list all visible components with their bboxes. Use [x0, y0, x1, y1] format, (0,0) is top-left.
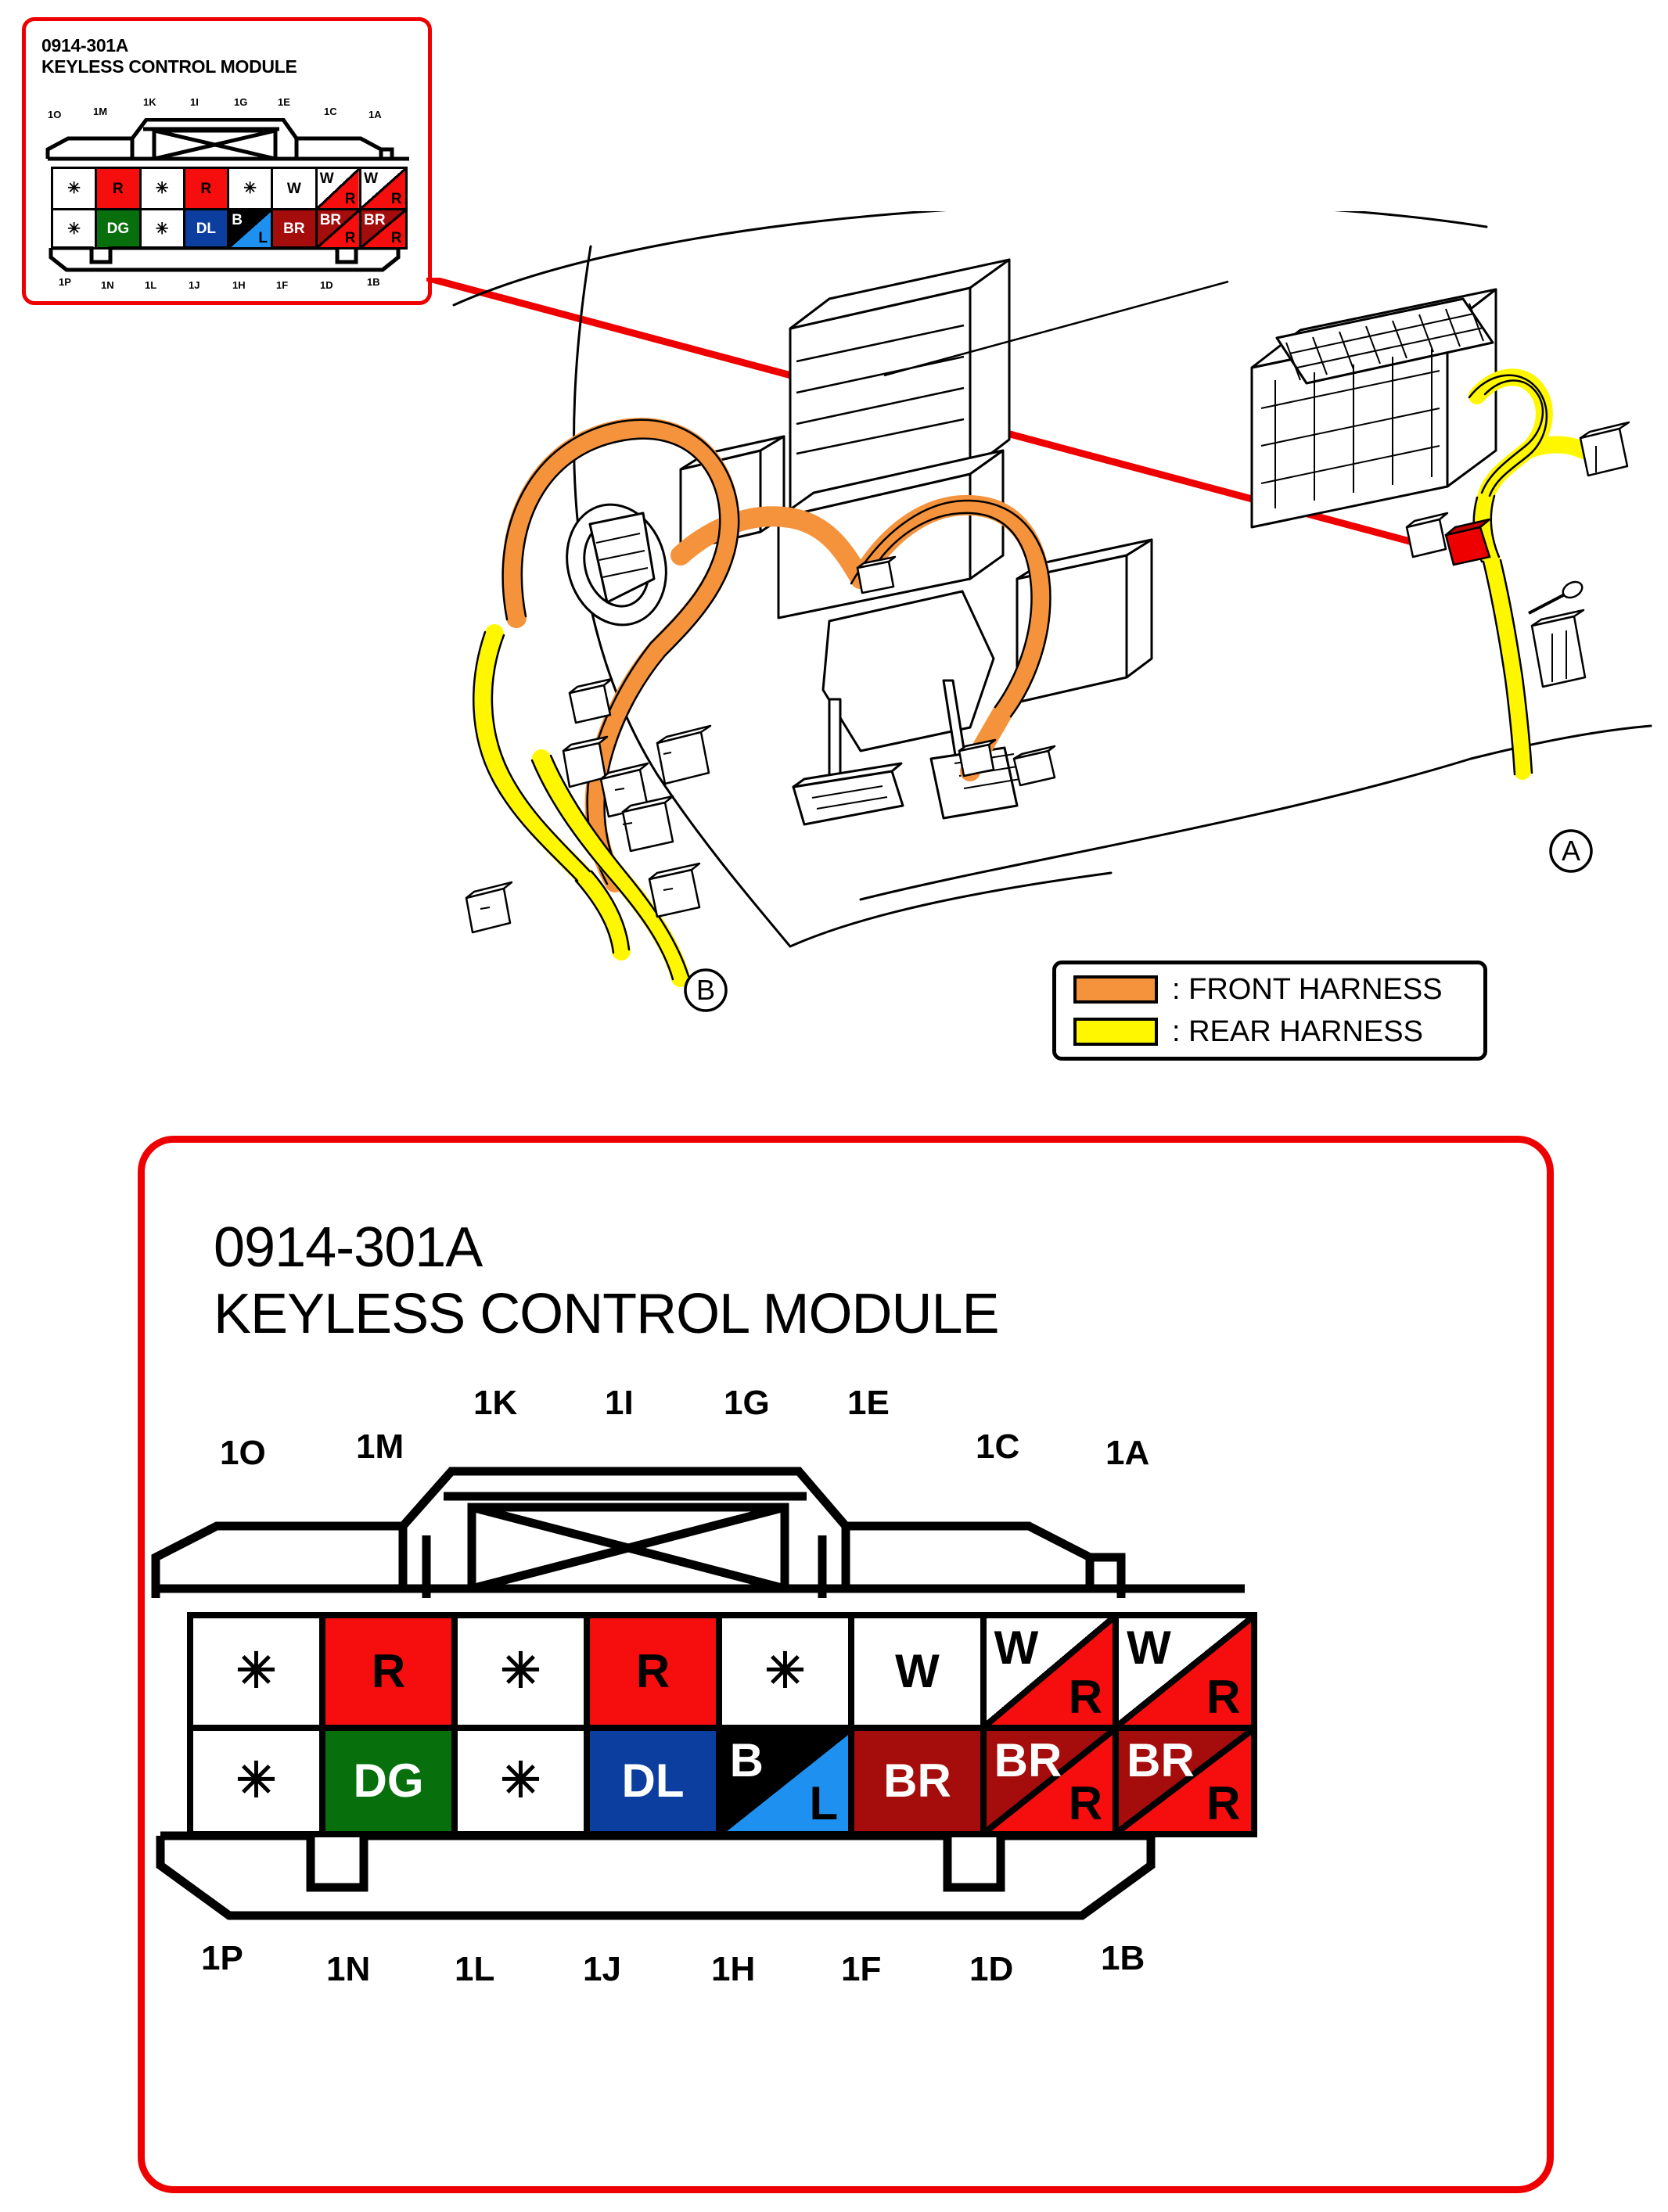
pin-cell[interactable]: DG — [97, 210, 141, 247]
front-harness-color-swatch — [1073, 975, 1158, 1004]
pin-cell[interactable]: R — [325, 1618, 458, 1725]
pin-cell[interactable]: WR — [361, 169, 405, 208]
pin-cell[interactable]: WR — [987, 1618, 1119, 1725]
inset-title-block: 0914-301A KEYLESS CONTROL MODULE — [41, 35, 417, 77]
svg-text:B: B — [696, 974, 715, 1006]
pin-cell[interactable]: WR — [1119, 1618, 1251, 1725]
pin-id-1F: 1F — [841, 1950, 881, 1989]
marker-a-icon: A — [1551, 831, 1591, 871]
inset-connector-top-shell — [45, 118, 412, 165]
inset-pin-id-1C: 1C — [324, 106, 337, 117]
rear-harness-color-swatch — [1073, 1018, 1158, 1046]
pin-cell[interactable]: DG — [325, 1731, 458, 1831]
inset-pin-grid: ✳R✳R✳WWRWR ✳DG✳DLBLBRBRRBRR — [51, 167, 408, 250]
pin-cell[interactable]: R — [185, 169, 229, 208]
harness-legend: : FRONT HARNESS : REAR HARNESS — [1052, 961, 1487, 1061]
inset-pin-id-1J: 1J — [189, 279, 200, 291]
panel-title-block: 0914-301A KEYLESS CONTROL MODULE — [214, 1215, 1387, 1348]
pin-id-1I: 1I — [605, 1384, 634, 1423]
pin-cell-label: ✳ — [67, 221, 81, 237]
inset-pin-id-1B: 1B — [367, 276, 380, 288]
pin-cell[interactable]: W — [854, 1618, 987, 1725]
pin-cell-label: R — [372, 1648, 405, 1695]
pin-cell[interactable]: ✳ — [229, 169, 273, 208]
pin-cell-label-primary: BR — [994, 1737, 1062, 1784]
pin-cell[interactable]: BR — [854, 1731, 987, 1831]
pin-cell-label-primary: W — [364, 171, 378, 186]
inset-callout-box: 0914-301A KEYLESS CONTROL MODULE 1O 1M 1… — [22, 17, 432, 305]
inset-pin-id-1K: 1K — [143, 96, 156, 108]
pin-cell-label: ✳ — [156, 221, 169, 237]
pin-cell[interactable]: ✳ — [458, 1731, 590, 1831]
pin-cell-label-primary: W — [320, 171, 334, 186]
pin-cell[interactable]: ✳ — [458, 1618, 590, 1725]
pin-cell-label: DG — [354, 1758, 424, 1804]
pin-cell[interactable]: ✳ — [193, 1618, 325, 1725]
inset-pin-id-1E: 1E — [278, 96, 290, 108]
inset-pin-id-1I: 1I — [190, 96, 199, 108]
inset-connector-bottom-shell — [45, 246, 412, 281]
pin-id-1G: 1G — [724, 1384, 770, 1423]
pin-cell-label-secondary: R — [1069, 1674, 1102, 1721]
connector-diagram: 1O 1M 1K 1I 1G 1E 1C 1A — [145, 1377, 1547, 2160]
inset-connector-diagram: 1O 1M 1K 1I 1G 1E 1C 1A ✳R✳R✳WWRWR ✳DG — [45, 99, 412, 279]
inset-pin-id-1F: 1F — [276, 279, 288, 291]
pin-id-1L: 1L — [455, 1950, 494, 1989]
pin-cell-label: DL — [622, 1758, 685, 1804]
pin-cell[interactable]: ✳ — [142, 210, 185, 247]
pin-cell-label: W — [287, 181, 301, 196]
pin-id-1N: 1N — [326, 1950, 370, 1989]
pin-cell-label: BR — [283, 221, 304, 236]
pin-cell[interactable]: BR — [273, 210, 317, 247]
inset-pin-row-top: ✳R✳R✳WWRWR — [53, 169, 405, 208]
pin-row-bottom: ✳DG✳DLBLBRBRRBRR — [193, 1725, 1251, 1831]
inset-pin-id-1N: 1N — [101, 279, 114, 291]
pin-cell-label-secondary: R — [391, 231, 402, 246]
pin-cell-label: ✳ — [67, 181, 81, 196]
pin-cell-label-primary: W — [1127, 1625, 1171, 1672]
pin-cell-label: ✳ — [501, 1757, 541, 1805]
inset-pin-id-1M: 1M — [93, 106, 107, 117]
pin-id-1D: 1D — [969, 1950, 1013, 1989]
pin-cell-label-primary: W — [994, 1625, 1039, 1672]
pin-cell-label-secondary: R — [1206, 1674, 1240, 1721]
pin-cell[interactable]: ✳ — [193, 1731, 325, 1831]
inset-pin-id-1L: 1L — [145, 279, 156, 291]
pin-id-1K: 1K — [473, 1384, 517, 1423]
pin-cell-label-secondary: R — [345, 231, 356, 246]
pin-cell-label-primary: B — [730, 1737, 764, 1784]
pin-cell-label-secondary: L — [809, 1780, 838, 1827]
inset-component-name: KEYLESS CONTROL MODULE — [41, 56, 297, 77]
pin-cell-label: ✳ — [156, 181, 169, 196]
pin-grid: ✳R✳R✳WWRWR ✳DG✳DLBLBRBRRBRR — [187, 1612, 1257, 1837]
pin-cell[interactable]: R — [590, 1618, 722, 1725]
pin-cell[interactable]: DL — [590, 1731, 722, 1831]
inset-pin-id-1D: 1D — [320, 279, 333, 291]
pin-cell-label: ✳ — [236, 1757, 277, 1805]
pin-cell-label: DL — [196, 221, 216, 236]
pin-cell[interactable]: BL — [229, 210, 273, 247]
rear-harness-label: : REAR HARNESS — [1172, 1015, 1423, 1049]
pin-cell-label: R — [201, 181, 212, 196]
connector-top-shell — [145, 1463, 1256, 1604]
pin-id-1J: 1J — [583, 1950, 621, 1989]
inset-pin-id-1P: 1P — [59, 276, 71, 288]
pin-cell-label-primary: BR — [364, 213, 385, 228]
pin-id-1E: 1E — [847, 1384, 890, 1423]
pin-cell[interactable]: BRR — [361, 210, 405, 247]
legend-item-front-harness: : FRONT HARNESS — [1073, 971, 1483, 1007]
pin-cell[interactable]: BRR — [1119, 1731, 1251, 1831]
pin-cell[interactable]: ✳ — [53, 210, 97, 247]
pin-cell-label-secondary: R — [1069, 1780, 1102, 1827]
pin-cell-label-secondary: R — [1206, 1780, 1240, 1827]
pin-cell-label-primary: BR — [1127, 1737, 1195, 1784]
pin-cell[interactable]: BRR — [987, 1731, 1119, 1831]
pin-cell-label-secondary: L — [258, 231, 268, 246]
pin-cell[interactable]: R — [97, 169, 141, 208]
marker-b-icon: B — [685, 970, 726, 1011]
pin-cell-label: W — [895, 1648, 940, 1695]
pin-cell-label-secondary: R — [345, 192, 356, 206]
pin-cell[interactable]: BRR — [318, 210, 361, 247]
pin-cell-label-primary: BR — [320, 213, 341, 228]
pin-cell[interactable]: DL — [185, 210, 229, 247]
pin-cell-label: BR — [883, 1758, 951, 1804]
inset-pin-id-1G: 1G — [234, 96, 247, 108]
inset-part-number: 0914-301A — [41, 35, 128, 56]
pin-cell-label: ✳ — [501, 1647, 541, 1696]
vehicle-interior-illustration: A B — [422, 211, 1668, 1040]
pin-cell[interactable]: BL — [722, 1731, 854, 1831]
pin-cell-label: R — [636, 1648, 670, 1695]
connector-detail-panel: 0914-301A KEYLESS CONTROL MODULE 1O 1M 1… — [138, 1136, 1554, 2193]
pin-id-1P: 1P — [201, 1939, 243, 1978]
pin-cell[interactable]: ✳ — [722, 1618, 854, 1725]
pin-row-top: ✳R✳R✳WWRWR — [193, 1618, 1251, 1725]
inset-pin-id-1H: 1H — [232, 279, 246, 291]
pin-id-1B: 1B — [1101, 1939, 1145, 1978]
front-harness-label: : FRONT HARNESS — [1172, 973, 1443, 1007]
pin-cell-label: ✳ — [765, 1647, 806, 1696]
panel-component-name: KEYLESS CONTROL MODULE — [214, 1281, 1387, 1348]
pin-cell-label-primary: B — [232, 213, 243, 228]
pin-cell-label: R — [113, 181, 124, 196]
svg-text:A: A — [1562, 835, 1580, 867]
pin-cell-label: DG — [107, 221, 130, 236]
pin-cell-label-secondary: R — [391, 192, 402, 206]
pin-cell-label: ✳ — [243, 181, 257, 196]
panel-part-number: 0914-301A — [214, 1216, 482, 1279]
pin-cell-label: ✳ — [236, 1647, 277, 1696]
pin-id-1H: 1H — [711, 1950, 755, 1989]
pin-id-1C: 1C — [976, 1427, 1019, 1467]
pin-cell[interactable]: ✳ — [142, 169, 185, 208]
connector-bottom-shell — [145, 1830, 1256, 1955]
legend-item-rear-harness: : REAR HARNESS — [1073, 1014, 1483, 1050]
pin-cell[interactable]: W — [273, 169, 317, 208]
inset-pin-row-bottom: ✳DG✳DLBLBRBRRBRR — [53, 208, 405, 247]
pin-cell[interactable]: WR — [318, 169, 361, 208]
pin-id-1M: 1M — [356, 1427, 404, 1467]
pin-cell[interactable]: ✳ — [53, 169, 97, 208]
